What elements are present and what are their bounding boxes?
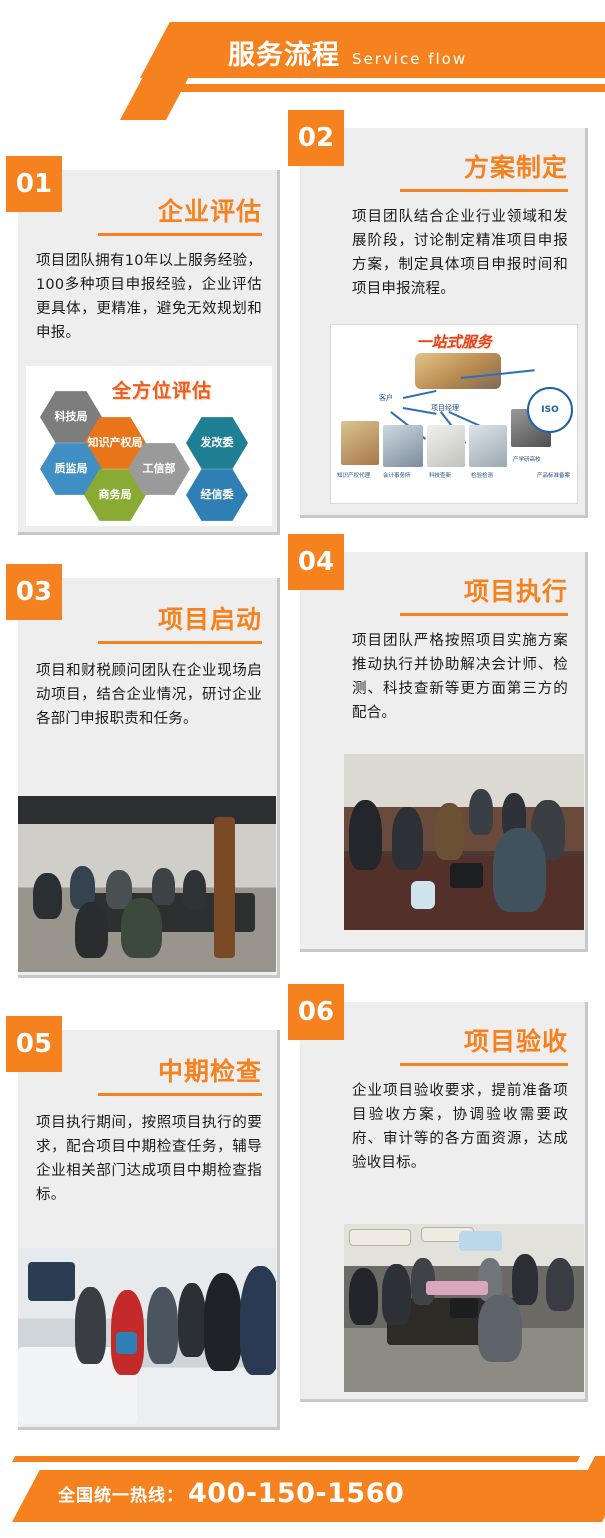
- footer-top-line: [12, 1456, 580, 1462]
- one-stop-service-label-6: 产品标准备案: [537, 471, 570, 479]
- card-body-02: 项目团队结合企业行业领域和发展阶段，讨论制定精准项目申报方案，制定具体项目申报时…: [352, 206, 568, 302]
- hex-node-jingxin: 经信委: [186, 468, 248, 522]
- card-title-02: 方案制定: [370, 148, 568, 184]
- card-photo-06: [344, 1224, 584, 1392]
- card-title-rule-01: [98, 233, 262, 236]
- one-stop-node-3: [427, 425, 465, 467]
- hex-node-fagai: 发改委: [186, 416, 248, 470]
- iso-seal-icon: ISO: [527, 387, 573, 433]
- one-stop-arrow-1: [403, 390, 437, 399]
- card-body-04: 项目团队严格按照项目实施方案推动执行并协助解决会计师、检测、科技查新等更方面第三…: [352, 630, 568, 726]
- one-stop-title: 一站式服务: [416, 331, 491, 352]
- card-body-06: 企业项目验收要求，提前准备项目验收方案，协调验收需要政府、审计等的各方面资源，达…: [352, 1080, 568, 1176]
- card-body-01: 项目团队拥有10年以上服务经验，100多种项目申报经验，企业评估更具体，更精准，…: [36, 250, 262, 346]
- page-header: 服务流程 Service flow: [0, 0, 605, 118]
- card-title-04: 项目执行: [370, 572, 568, 608]
- page-title: 服务流程: [228, 33, 340, 72]
- card-photo-03: [18, 796, 276, 972]
- page-subtitle: Service flow: [352, 50, 467, 68]
- step-card-01[interactable]: 企业评估 项目团队拥有10年以上服务经验，100多种项目申报经验，企业评估更具体…: [18, 170, 280, 535]
- one-stop-node-4: [469, 425, 507, 467]
- card-number-badge-03: 03: [6, 564, 62, 620]
- hex-diagram-title: 全方位评估: [112, 376, 212, 403]
- step-card-03[interactable]: 项目启动 项目和财税顾问团队在企业现场启动项目，结合企业情况，研讨企业各部门申报…: [18, 578, 280, 978]
- step-card-06[interactable]: 项目验收 企业项目验收要求，提前准备项目验收方案，协调验收需要政府、审计等的各方…: [300, 1002, 588, 1402]
- one-stop-service-label-2: 会计事务所: [383, 471, 411, 479]
- photo-scene-meeting-room: [18, 796, 276, 972]
- header-banner-underline: [152, 84, 605, 92]
- one-stop-service-label-4: 检验检测: [471, 471, 493, 479]
- photo-scene-working-session: [344, 754, 584, 930]
- card-title-rule-05: [98, 1093, 262, 1096]
- one-stop-service-diagram: 一站式服务 客户 项目经理 ISO 知识产权代理 会计事务所 科技查新 检验检测: [330, 324, 578, 504]
- card-title-06: 项目验收: [370, 1022, 568, 1058]
- card-title-01: 企业评估: [74, 192, 262, 228]
- card-title-rule-03: [98, 641, 262, 644]
- one-stop-center-photo: [415, 353, 501, 389]
- service-flow-infographic: 服务流程 Service flow 企业评估 项目团队拥有10年以上服务经验，1…: [0, 0, 605, 1538]
- card-body-05: 项目执行期间，按照项目执行的要求，配合项目中期检查任务，辅导企业相关部门达成项目…: [36, 1112, 262, 1208]
- page-footer: 全国统一热线： 400-150-1560: [0, 1438, 605, 1538]
- card-title-05: 中期检查: [74, 1052, 262, 1088]
- card-photo-05: [18, 1248, 276, 1424]
- one-stop-service-label-1: 知识产权代理: [337, 471, 370, 479]
- one-stop-service-label-3: 科技查新: [429, 471, 451, 479]
- card-number-badge-05: 05: [6, 1016, 62, 1072]
- header-title-group: 服务流程 Service flow: [228, 33, 467, 71]
- card-body-03: 项目和财税顾问团队在企业现场启动项目，结合企业情况，研讨企业各部门申报职责和任务…: [36, 660, 262, 732]
- card-number-badge-06: 06: [288, 984, 344, 1040]
- card-number-badge-01: 01: [6, 156, 62, 212]
- card-number-badge-04: 04: [288, 534, 344, 590]
- step-card-04[interactable]: 项目执行 项目团队严格按照项目实施方案推动执行并协助解决会计师、检测、科技查新等…: [300, 552, 588, 952]
- hotline-label: 全国统一热线：: [58, 1481, 184, 1506]
- one-stop-label-customer: 客户: [379, 393, 393, 403]
- one-stop-node-2: [383, 425, 423, 467]
- card-title-rule-04: [400, 613, 568, 616]
- hotline-number[interactable]: 400-150-1560: [188, 1478, 404, 1509]
- one-stop-label-manager: 项目经理: [431, 403, 459, 413]
- card-title-rule-02: [400, 189, 568, 192]
- card-title-rule-06: [400, 1063, 568, 1066]
- one-stop-node-1: [341, 421, 379, 465]
- assessment-hex-diagram: 全方位评估 科技局 知识产权局 质监局 商务局 工信部 发改委 经信委: [26, 366, 272, 526]
- one-stop-service-label-5: 产学研高校: [513, 455, 541, 463]
- card-photo-04: [344, 754, 584, 930]
- card-title-03: 项目启动: [74, 600, 262, 636]
- card-number-badge-02: 02: [288, 110, 344, 166]
- photo-scene-acceptance-meeting: [344, 1224, 584, 1392]
- step-card-05[interactable]: 中期检查 项目执行期间，按照项目执行的要求，配合项目中期检查任务，辅导企业相关部…: [18, 1030, 280, 1430]
- step-card-02[interactable]: 方案制定 项目团队结合企业行业领域和发展阶段，讨论制定精准项目申报方案，制定具体…: [300, 128, 588, 518]
- photo-scene-site-visit: [18, 1248, 276, 1424]
- footer-hotline-group[interactable]: 全国统一热线： 400-150-1560: [58, 1478, 404, 1509]
